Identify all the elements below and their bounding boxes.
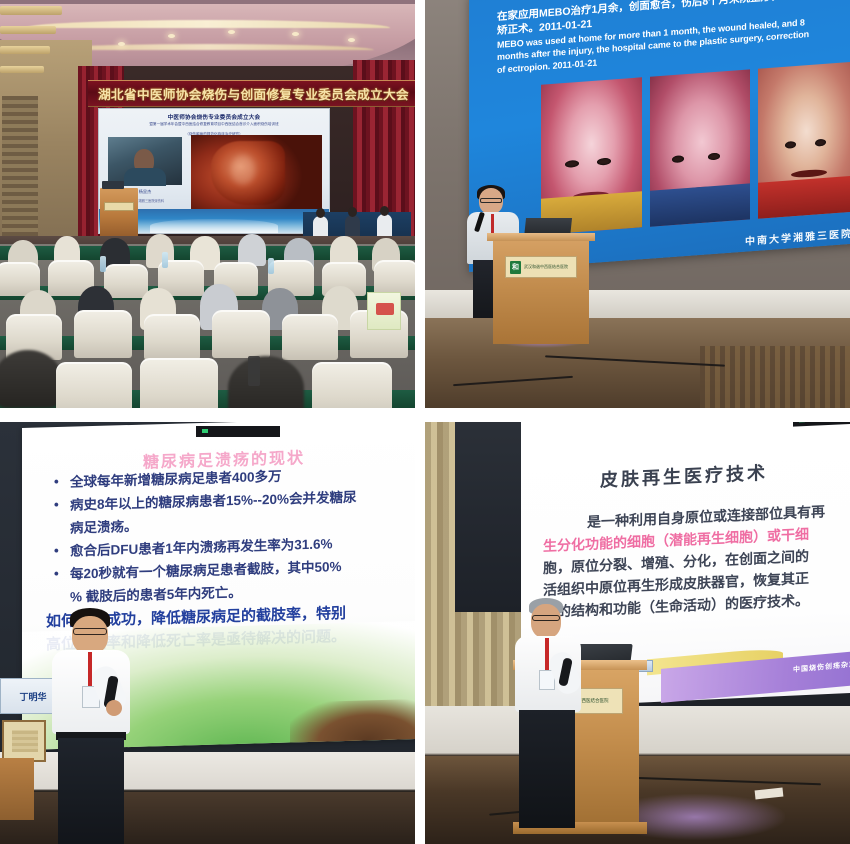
slide-subtitle-1: 暨第一届学术年会暨中西医结合修复教育项目中西医结合首诊介入面积烧伤培训班 bbox=[105, 122, 323, 127]
slide-text: 在家应用MEBO治疗1月余，创面愈合，伤后8个月来院整形，行睑外翻 矫正术。20… bbox=[497, 0, 850, 76]
photo-panel-top-right[interactable]: 在家应用MEBO治疗1月余，创面愈合，伤后8个月来院整形，行睑外翻 矫正术。20… bbox=[425, 0, 850, 408]
head bbox=[348, 207, 357, 217]
podium bbox=[100, 188, 138, 240]
eye bbox=[597, 158, 611, 166]
clinical-image-row bbox=[541, 61, 850, 234]
trousers bbox=[519, 710, 575, 828]
eye bbox=[815, 139, 826, 147]
photo-panel-bottom-right[interactable]: 皮肤再生医疗技术 是一种利用自身原位或连接部位具有再 生分化功能的细胞（潜能再生… bbox=[425, 422, 850, 844]
chair bbox=[56, 362, 132, 408]
gold-fin bbox=[0, 6, 62, 15]
conference-tote-bag bbox=[367, 292, 401, 330]
slide-title: 中医师协会烧伤专业委员会成立大会 bbox=[99, 113, 329, 121]
clinical-face-3 bbox=[758, 61, 850, 218]
attendee-foreground bbox=[228, 356, 304, 408]
slide-bullet-list: 全球每年新增糖尿病足患者400多万 病史8年以上的糖尿病患者15%--20%会并… bbox=[70, 463, 415, 610]
wall-plaque bbox=[2, 720, 46, 762]
chair bbox=[140, 358, 218, 408]
head bbox=[380, 206, 389, 216]
head bbox=[316, 208, 325, 218]
gold-fin bbox=[0, 66, 44, 73]
podium: 和 武汉和谐中西医结合医院 bbox=[493, 238, 589, 344]
clinical-highlight bbox=[231, 155, 255, 185]
slide-footer-text: 中国烧伤创疡杂志 bbox=[793, 659, 850, 675]
conference-banner: 湖北省中医师协会烧伤与创面修复专业委员会成立大会 bbox=[88, 80, 415, 107]
lanyard bbox=[545, 638, 549, 672]
chair bbox=[212, 310, 270, 358]
hand bbox=[106, 700, 122, 716]
podium-logo-plate: 和 武汉和谐中西医结合医院 bbox=[505, 256, 577, 278]
chair bbox=[144, 314, 200, 360]
gold-fin bbox=[0, 26, 56, 34]
mebo-presentation-photo: 在家应用MEBO治疗1月余，创面愈合，伤后8个月来院整形，行睑外翻 矫正术。20… bbox=[425, 0, 850, 408]
chair bbox=[74, 310, 132, 358]
projector-bar bbox=[793, 422, 850, 427]
hospital-logo-icon: 和 bbox=[510, 261, 521, 274]
conference-hall-photo: 湖北省中医师协会烧伤与创面修复专业委员会成立大会 中医师协会烧伤专业委员会成立大… bbox=[0, 0, 415, 408]
lanyard bbox=[88, 652, 92, 688]
banner-text: 湖北省中医师协会烧伤与创面修复专业委员会成立大会 bbox=[98, 84, 409, 103]
water-bottle bbox=[162, 252, 168, 268]
podium-hospital-name: 武汉和谐中西医结合医院 bbox=[524, 264, 568, 269]
mouth bbox=[791, 169, 827, 179]
glasses bbox=[73, 628, 107, 635]
trousers bbox=[58, 738, 124, 844]
chair bbox=[104, 264, 148, 298]
photo-grid: 湖北省中医师协会烧伤与创面修复专业委员会成立大会 中医师协会烧伤专业委员会成立大… bbox=[0, 0, 850, 844]
clothing bbox=[650, 183, 751, 226]
skin-regeneration-presentation-photo: 皮肤再生医疗技术 是一种利用自身原位或连接部位具有再 生分化功能的细胞（潜能再生… bbox=[425, 422, 850, 844]
photo-panel-bottom-left[interactable]: 糖尿病足溃疡的现状 全球每年新增糖尿病足患者400多万 病史8年以上的糖尿病患者… bbox=[0, 422, 415, 844]
downlight bbox=[292, 32, 299, 36]
glasses bbox=[480, 198, 502, 203]
left-wall-lattice bbox=[2, 96, 38, 252]
wall-lattice-right bbox=[700, 346, 850, 408]
clinical-face-2 bbox=[650, 69, 751, 226]
slide-clinical-photo bbox=[191, 135, 322, 209]
gold-fin bbox=[0, 46, 50, 54]
clinical-face-1 bbox=[541, 77, 642, 234]
slide-soil-graphic bbox=[290, 699, 415, 743]
speaker-person bbox=[515, 598, 581, 828]
water-bottle bbox=[100, 256, 106, 272]
slide-portrait-photo bbox=[108, 137, 182, 185]
audience-area bbox=[0, 244, 415, 408]
podium-nameplate bbox=[104, 202, 134, 211]
clothing bbox=[758, 175, 850, 218]
chair bbox=[312, 362, 392, 408]
water-bottle bbox=[248, 356, 260, 386]
attendee-foreground bbox=[0, 350, 62, 408]
glasses bbox=[532, 615, 560, 621]
slide-body-text: 是一种利用自身原位或连接部位具有再 生分化功能的细胞（潜能再生细胞）或干细 胞，… bbox=[543, 498, 850, 623]
diabetic-foot-presentation-photo: 糖尿病足溃疡的现状 全球每年新增糖尿病足患者400多万 病史8年以上的糖尿病患者… bbox=[0, 422, 415, 844]
downlight bbox=[118, 42, 125, 46]
downlight bbox=[348, 38, 355, 42]
portrait-body bbox=[124, 168, 166, 186]
head bbox=[72, 616, 108, 654]
eye bbox=[565, 160, 579, 168]
downlight bbox=[228, 30, 235, 34]
head bbox=[531, 604, 561, 638]
eye bbox=[672, 155, 684, 163]
projector-bar bbox=[196, 426, 280, 437]
chair bbox=[282, 314, 338, 360]
water-bottle bbox=[268, 258, 274, 274]
downlight bbox=[168, 34, 175, 38]
photo-panel-top-left[interactable]: 湖北省中医师协会烧伤与创面修复专业委员会成立大会 中医师协会烧伤专业委员会成立大… bbox=[0, 0, 415, 408]
side-podium bbox=[0, 758, 34, 820]
speaker-person bbox=[52, 608, 130, 844]
chair bbox=[374, 260, 415, 296]
hospital-watermark: 中南大学湘雅三医院 bbox=[745, 225, 850, 248]
eye bbox=[785, 141, 796, 149]
eye bbox=[708, 153, 720, 161]
podium-laptop bbox=[102, 181, 124, 189]
slide-title: 皮肤再生医疗技术 bbox=[521, 455, 847, 496]
name-sign-text: 丁明华 bbox=[19, 690, 46, 703]
podium-top bbox=[487, 233, 595, 241]
